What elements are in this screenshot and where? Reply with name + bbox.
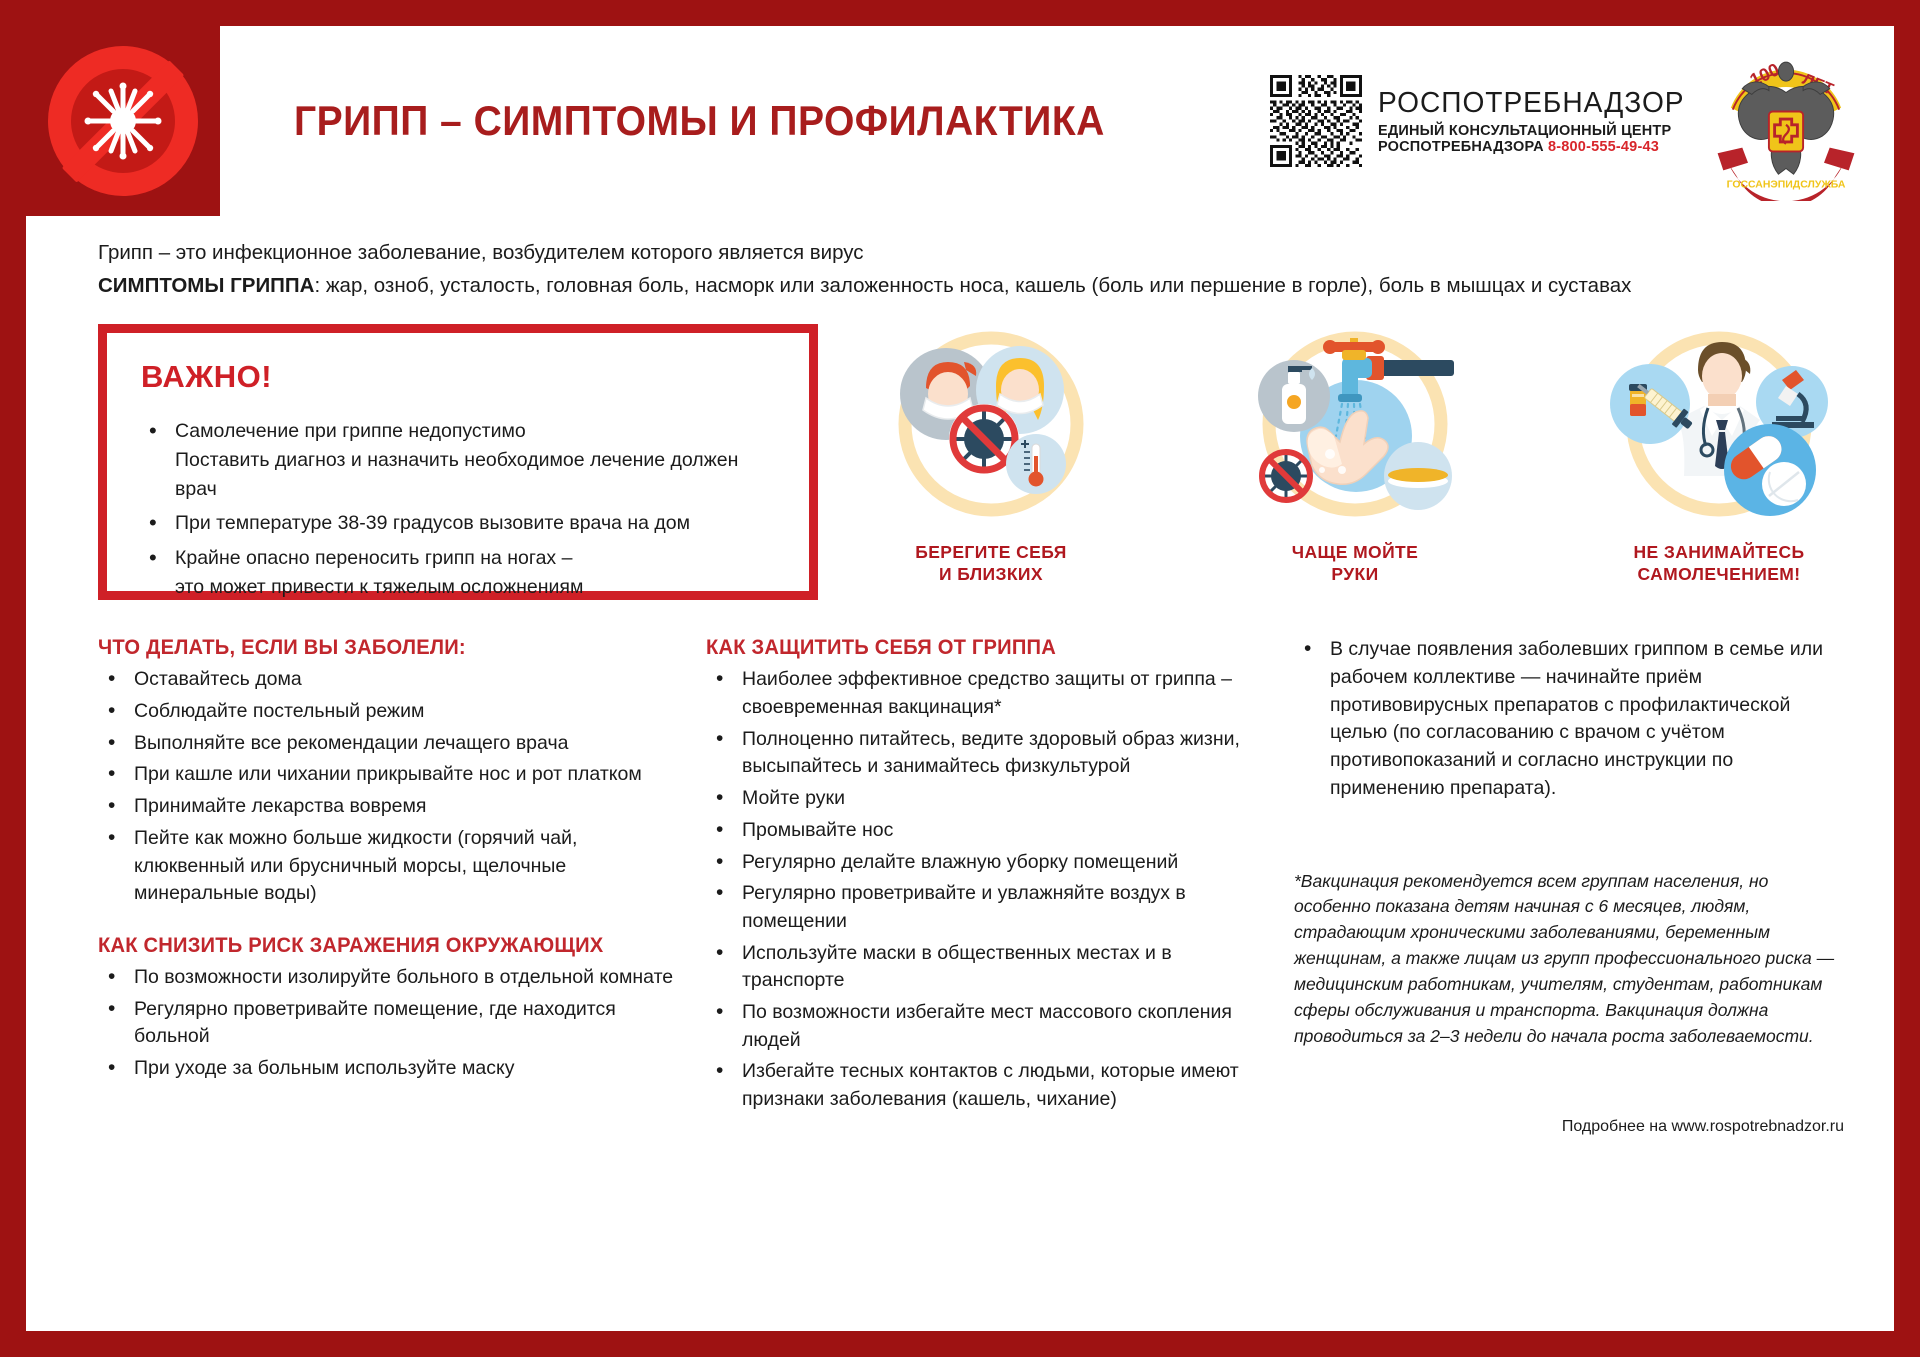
icon-row: БЕРЕГИТЕ СЕБЯ И БЛИЗКИХ [842, 324, 1854, 600]
brand-subtitle-org: РОСПОТРЕБНАДЗОРА [1378, 139, 1544, 155]
mid-section: ВАЖНО! Самолечение при гриппе недопустим… [26, 302, 1894, 600]
icon-card-wash-hands: ЧАЩЕ МОЙТЕ РУКИ [1230, 324, 1480, 600]
title-area: ГРИПП – СИМПТОМЫ И ПРОФИЛАКТИКА [220, 26, 1270, 216]
list-item: Регулярно делайте влажную уборку помещен… [706, 849, 1266, 877]
people-masks-virus-thermometer-icon [874, 324, 1109, 534]
icon-caption: БЕРЕГИТЕ СЕБЯ И БЛИЗКИХ [866, 542, 1116, 585]
brand-subtitle-line2: РОСПОТРЕБНАДЗОРА 8-800-555-49-43 [1378, 139, 1694, 155]
caption-line-1: БЕРЕГИТЕ СЕБЯ [866, 542, 1116, 564]
important-list: Самолечение при гриппе недопустимо Поста… [141, 417, 779, 601]
poster-header: ГРИПП – СИМПТОМЫ И ПРОФИЛАКТИКА [26, 26, 1894, 216]
brand-text: РОСПОТРЕБНАДЗОР ЕДИНЫЙ КОНСУЛЬТАЦИОННЫЙ … [1378, 87, 1694, 156]
virus-blocked-icon [1262, 452, 1310, 500]
caption-line-2: И БЛИЗКИХ [866, 564, 1116, 586]
list-item: Наиболее эффективное средство защиты от … [706, 666, 1266, 721]
caption-line-1: ЧАЩЕ МОЙТЕ [1230, 542, 1480, 564]
caption-line-2: РУКИ [1230, 564, 1480, 586]
list-item: По возможности избегайте мест массового … [706, 999, 1266, 1054]
poster-root: ГРИПП – СИМПТОМЫ И ПРОФИЛАКТИКА [0, 0, 1920, 1357]
tablet-icon [1762, 462, 1806, 506]
caption-line-1: НЕ ЗАНИМАЙТЕСЬ [1594, 542, 1844, 564]
list-item: При температуре 38-39 градусов вызовите … [141, 509, 779, 538]
vaccination-footnote: *Вакцинация рекомендуется всем группам н… [1294, 869, 1850, 1050]
list-antiviral: В случае появления заболевших гриппом в … [1294, 636, 1850, 802]
list-reduce-risk: По возможности изолируйте больного в отд… [98, 964, 678, 1083]
list-item: По возможности изолируйте больного в отд… [98, 964, 678, 992]
intro-line-2: СИМПТОМЫ ГРИППА: жар, озноб, усталость, … [98, 269, 1834, 302]
brand-subtitle-line1: ЕДИНЫЙ КОНСУЛЬТАЦИОННЫЙ ЦЕНТР [1378, 123, 1694, 139]
list-item: Оставайтесь дома [98, 666, 678, 694]
list-item: Соблюдайте постельный режим [98, 698, 678, 726]
icon-caption: ЧАЩЕ МОЙТЕ РУКИ [1230, 542, 1480, 585]
column-how-to-protect: КАК ЗАЩИТИТЬ СЕБЯ ОТ ГРИППА Наиболее эфф… [706, 636, 1266, 1135]
important-heading: ВАЖНО! [141, 359, 779, 395]
list-what-to-do: Оставайтесь дома Соблюдайте постельный р… [98, 666, 678, 908]
page-title: ГРИПП – СИМПТОМЫ И ПРОФИЛАКТИКА [294, 97, 1105, 145]
doctor-syringe-microscope-pills-icon [1602, 324, 1837, 534]
website-link[interactable]: Подробнее на www.rospotrebnadzor.ru [1294, 1118, 1850, 1136]
list-item: При кашле или чихании прикрывайте нос и … [98, 761, 678, 789]
list-item: Избегайте тесных контактов с людьми, кот… [706, 1058, 1266, 1113]
intro-block: Грипп – это инфекционное заболевание, во… [26, 216, 1894, 302]
list-how-to-protect: Наиболее эффективное средство защиты от … [706, 666, 1266, 1113]
virus-no-entry-icon [48, 46, 198, 196]
list-item: Полноценно питайтесь, ведите здоровый об… [706, 726, 1266, 781]
emblem-banner-text: ГОССАНЭПИДСЛУЖБА [1727, 180, 1846, 191]
list-item: При уходе за больным используйте маску [98, 1055, 678, 1083]
logo-block [26, 26, 220, 216]
brand-area: РОСПОТРЕБНАДЗОР ЕДИНЫЙ КОНСУЛЬТАЦИОННЫЙ … [1270, 26, 1894, 216]
section-heading-reduce-risk: КАК СНИЗИТЬ РИСК ЗАРАЖЕНИЯ ОКРУЖАЮЩИХ [98, 934, 655, 958]
icon-card-protect-yourself: БЕРЕГИТЕ СЕБЯ И БЛИЗКИХ [866, 324, 1116, 600]
list-item: Регулярно проветривайте помещение, где н… [98, 996, 678, 1051]
list-item: Крайне опасно переносить грипп на ногах … [141, 544, 779, 601]
symptoms-label: СИМПТОМЫ ГРИППА [98, 274, 314, 297]
intro-line-1: Грипп – это инфекционное заболевание, во… [98, 236, 1834, 269]
icon-card-no-self-medication: НЕ ЗАНИМАЙТЕСЬ САМОЛЕЧЕНИЕМ! [1594, 324, 1844, 600]
symptoms-text: : жар, озноб, усталость, головная боль, … [314, 274, 1631, 297]
list-item: Мойте руки [706, 785, 1266, 813]
brand-name: РОСПОТРЕБНАДЗОР [1378, 87, 1685, 119]
gossanepidsluzhba-emblem-icon: 100 ЛЕТ ГОССАНЭПИДСЛУЖБА [1710, 41, 1862, 201]
handwashing-tap-soap-icon [1238, 324, 1473, 534]
content-columns: ЧТО ДЕЛАТЬ, ЕСЛИ ВЫ ЗАБОЛЕЛИ: Оставайтес… [26, 600, 1894, 1135]
important-box: ВАЖНО! Самолечение при гриппе недопустим… [98, 324, 818, 600]
list-item: В случае появления заболевших гриппом в … [1294, 636, 1850, 802]
section-heading-what-to-do: ЧТО ДЕЛАТЬ, ЕСЛИ ВЫ ЗАБОЛЕЛИ: [98, 636, 655, 660]
list-item: Используйте маски в общественных местах … [706, 940, 1266, 995]
column-antiviral-note: В случае появления заболевших гриппом в … [1294, 636, 1850, 1135]
qr-code-icon [1270, 75, 1362, 167]
section-heading-how-to-protect: КАК ЗАЩИТИТЬ СЕБЯ ОТ ГРИППА [706, 636, 1244, 660]
list-item: Промывайте нос [706, 817, 1266, 845]
list-item: Пейте как можно больше жидкости (горячий… [98, 825, 678, 908]
column-what-to-do: ЧТО ДЕЛАТЬ, ЕСЛИ ВЫ ЗАБОЛЕЛИ: Оставайтес… [98, 636, 678, 1135]
list-item: Выполняйте все рекомендации лечащего вра… [98, 730, 678, 758]
icon-caption: НЕ ЗАНИМАЙТЕСЬ САМОЛЕЧЕНИЕМ! [1594, 542, 1844, 585]
hotline-phone[interactable]: 8-800-555-49-43 [1548, 139, 1659, 155]
list-item: Регулярно проветривайте и увлажняйте воз… [706, 880, 1266, 935]
list-item: Самолечение при гриппе недопустимо Поста… [141, 417, 779, 503]
caption-line-2: САМОЛЕЧЕНИЕМ! [1594, 564, 1844, 586]
list-item: Принимайте лекарства вовремя [98, 793, 678, 821]
